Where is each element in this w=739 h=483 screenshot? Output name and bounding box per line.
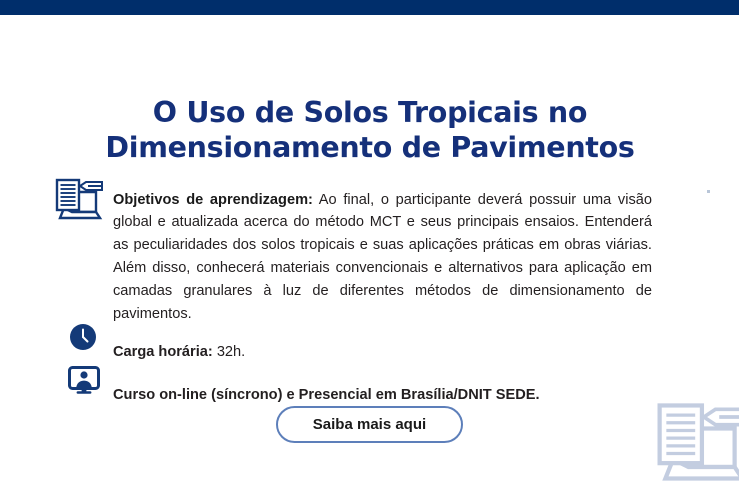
laptop-document-pencil-icon: [52, 174, 104, 224]
modality-text: Curso on-line (síncrono) e Presencial em…: [113, 385, 540, 405]
stray-speck: [707, 190, 710, 193]
learning-objectives-body: Ao final, o participante deverá possuir …: [113, 192, 652, 322]
saiba-mais-button[interactable]: Saiba mais aqui: [276, 406, 463, 443]
workload-text: Carga horária: 32h.: [113, 342, 245, 362]
monitor-person-icon: [68, 366, 100, 394]
learning-objectives-text: Objetivos de aprendizagem: Ao final, o p…: [113, 189, 652, 326]
card-body: Objetivos de aprendizagem: Ao final, o p…: [0, 0, 739, 483]
workload-label: Carga horária:: [113, 344, 213, 360]
learning-objectives-label: Objetivos de aprendizagem:: [113, 192, 313, 208]
laptop-document-pencil-watermark-icon: [650, 392, 739, 483]
workload-value: 32h.: [213, 344, 245, 360]
clock-icon: [69, 323, 97, 351]
course-promo-card: O Uso de Solos Tropicais no Dimensioname…: [0, 0, 739, 483]
